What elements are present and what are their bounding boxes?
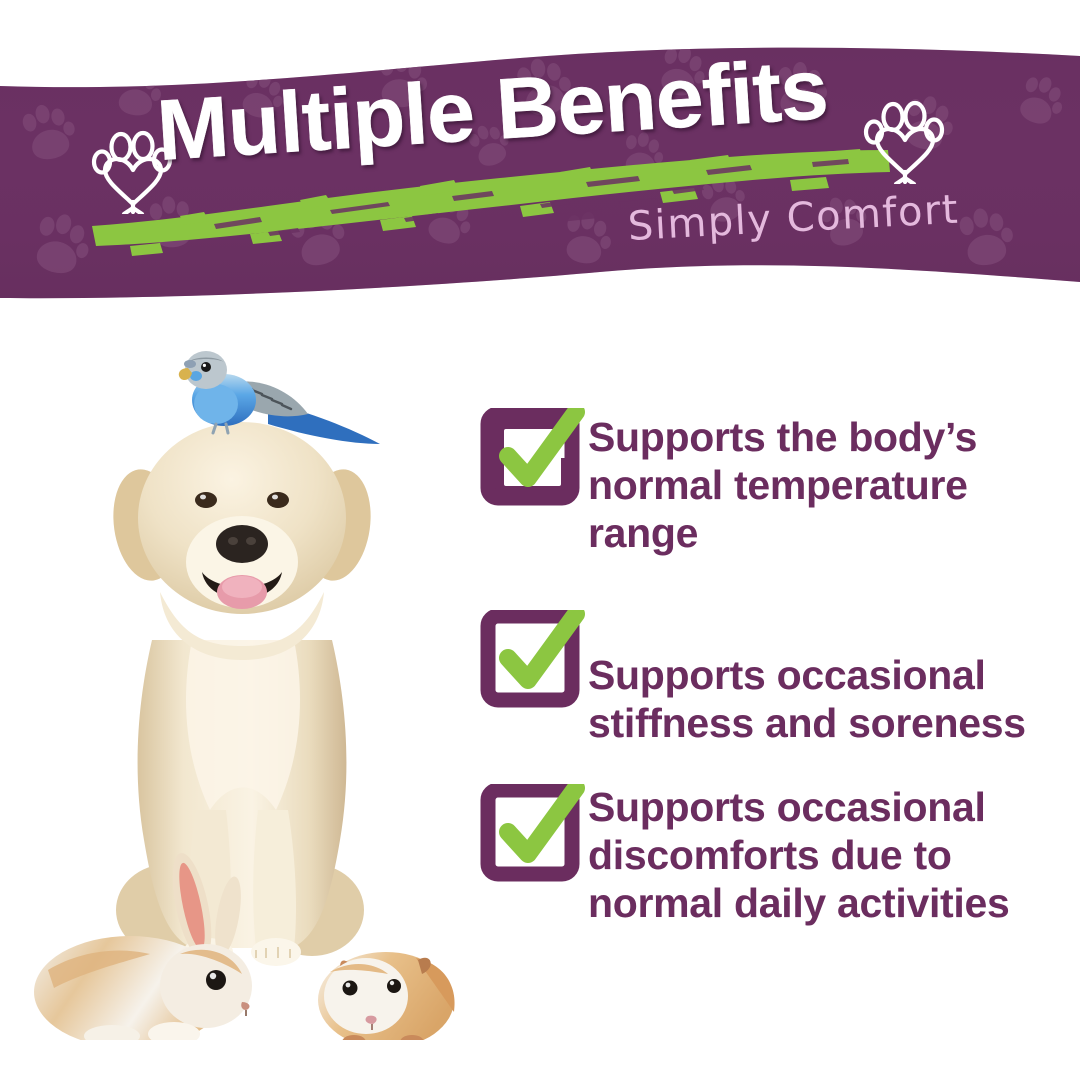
checkbox-checked-icon[interactable]: [476, 784, 588, 888]
golden-retriever-dog: [107, 422, 378, 966]
benefit-line: Supports the body’s: [588, 414, 1076, 462]
animal-photo-group: [20, 340, 480, 1040]
benefit-text: Supports occasional discomforts due to n…: [588, 784, 1010, 928]
benefit-text: Supports the body’s normal temperature r…: [588, 408, 1076, 558]
poster-root: Multiple Benefits Simply Comfort: [0, 0, 1080, 1080]
benefit-line: normal temperature range: [588, 462, 1076, 558]
benefit-line: stiffness and soreness: [588, 700, 1026, 748]
benefit-item[interactable]: Supports the body’s normal temperature r…: [476, 408, 1076, 558]
benefit-item[interactable]: Supports occasional discomforts due to n…: [476, 784, 1076, 928]
checkbox-checked-icon[interactable]: [476, 610, 588, 714]
benefit-line: discomforts due to: [588, 832, 1010, 880]
pets-illustration: [20, 340, 480, 1040]
benefit-item[interactable]: Supports occasional stiffness and sorene…: [476, 610, 1076, 748]
checkbox-checked-icon[interactable]: [476, 408, 588, 512]
benefits-list: Supports the body’s normal temperature r…: [476, 408, 1076, 928]
guinea-pig: [318, 952, 455, 1040]
benefit-line: Supports occasional: [588, 784, 1010, 832]
benefit-text: Supports occasional stiffness and sorene…: [588, 610, 1026, 748]
header-banner: Multiple Benefits Simply Comfort: [0, 0, 1080, 330]
benefit-line: normal daily activities: [588, 880, 1010, 928]
benefit-line: Supports occasional: [588, 652, 1026, 700]
